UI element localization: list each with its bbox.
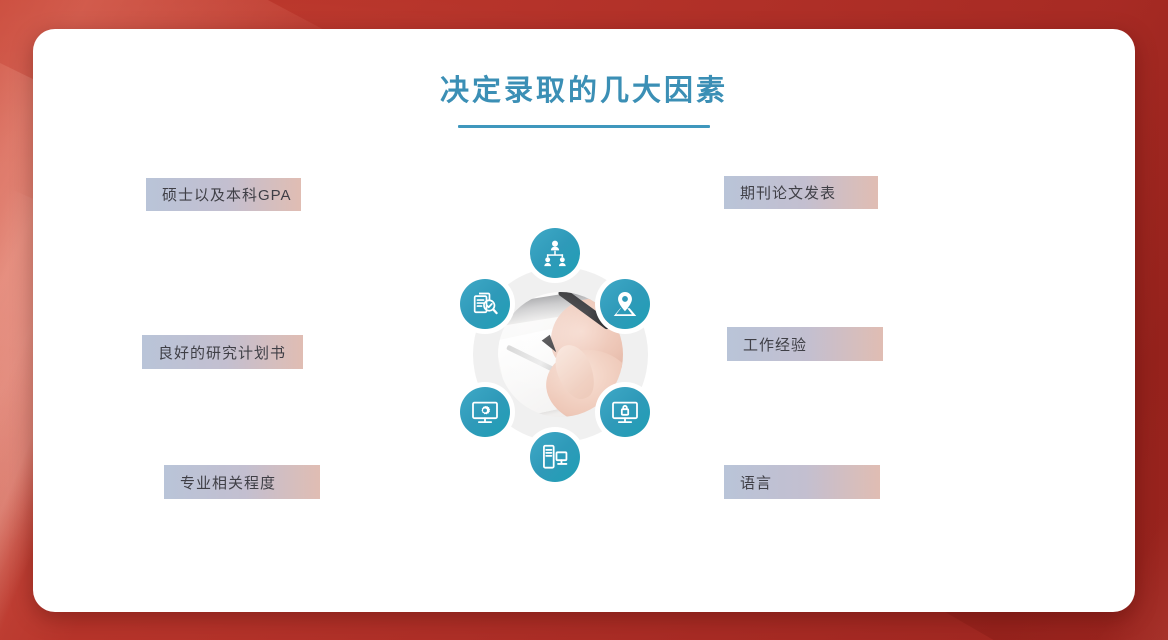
title-block: 决定录取的几大因素 <box>33 73 1135 128</box>
location-pin-icon[interactable] <box>600 279 650 329</box>
factor-label-left-3[interactable]: 专业相关程度 <box>164 465 320 499</box>
factor-label-left-2[interactable]: 良好的研究计划书 <box>142 335 303 369</box>
server-desktop-icon[interactable] <box>530 432 580 482</box>
factor-label-left-1[interactable]: 硕士以及本科GPA <box>146 178 301 211</box>
icon-wheel <box>441 219 669 489</box>
factor-label-text: 语言 <box>740 472 772 493</box>
page-title: 决定录取的几大因素 <box>33 73 1135 108</box>
title-underline <box>458 125 710 128</box>
org-chart-icon[interactable] <box>530 228 580 278</box>
monitor-gear-icon[interactable] <box>460 387 510 437</box>
factor-label-right-1[interactable]: 期刊论文发表 <box>724 176 878 209</box>
factor-label-text: 专业相关程度 <box>180 472 276 493</box>
factor-label-text: 工作经验 <box>743 334 807 355</box>
factor-label-right-3[interactable]: 语言 <box>724 465 880 499</box>
document-search-icon[interactable] <box>460 279 510 329</box>
factor-label-text: 硕士以及本科GPA <box>162 184 292 205</box>
factor-label-text: 期刊论文发表 <box>740 182 836 203</box>
slide-root: 决定录取的几大因素 硕士以及本科GPA 良好的研究计划书 专业相关程度 期刊论文… <box>0 0 1168 640</box>
factor-label-text: 良好的研究计划书 <box>158 342 286 363</box>
content-card: 决定录取的几大因素 硕士以及本科GPA 良好的研究计划书 专业相关程度 期刊论文… <box>33 29 1135 612</box>
monitor-lock-icon[interactable] <box>600 387 650 437</box>
factor-label-right-2[interactable]: 工作经验 <box>727 327 883 361</box>
